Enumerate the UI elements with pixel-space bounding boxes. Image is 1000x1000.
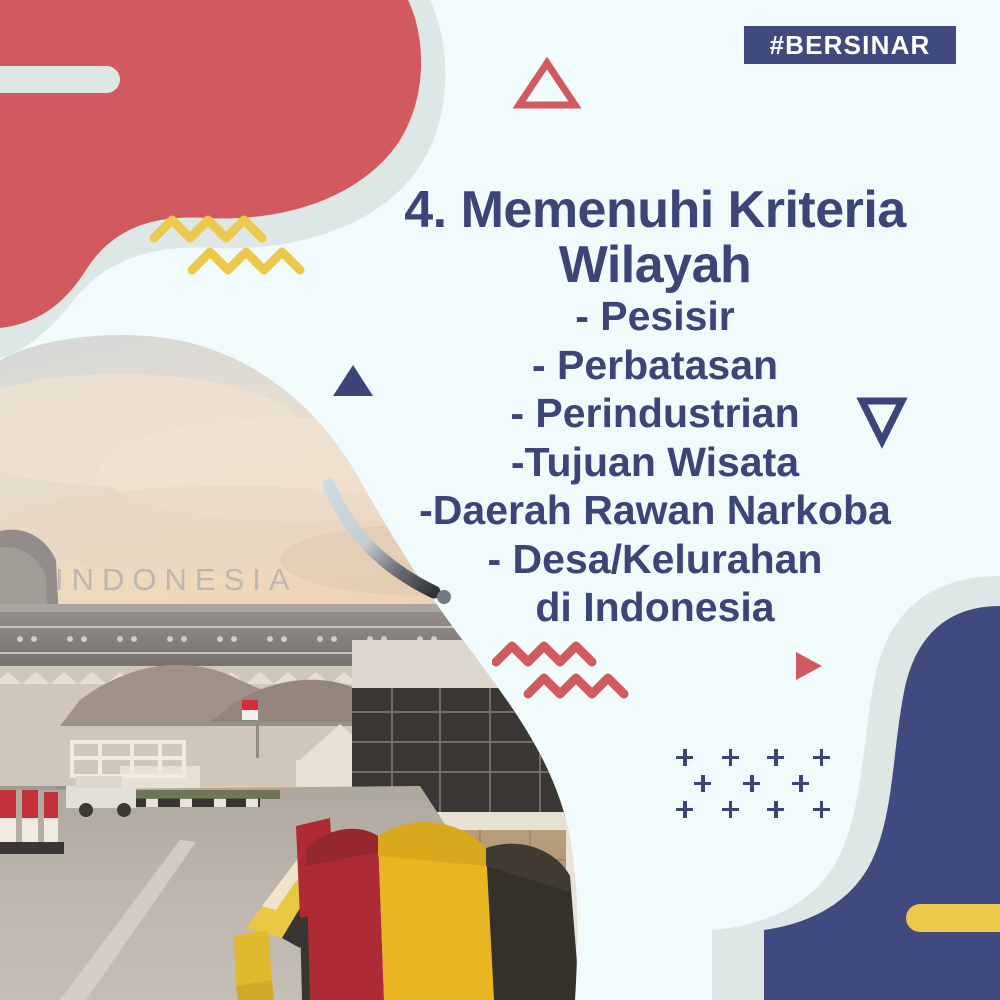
hashtag-badge: #BERSINAR — [744, 26, 956, 64]
yellow-zigzag — [150, 212, 310, 278]
red-zigzag — [492, 640, 642, 702]
criteria-item: - Perbatasan — [330, 341, 980, 390]
plus-icon — [767, 801, 781, 818]
plus-icon — [813, 801, 827, 818]
criteria-item: - Desa/Kelurahan — [330, 535, 980, 584]
plus-icon — [722, 801, 736, 818]
criteria-item: -Tujuan Wisata — [330, 438, 980, 487]
yellow-bar-bottom-right — [906, 904, 1000, 932]
mist-bar-top-left — [0, 66, 120, 93]
navy-plus-grid — [676, 744, 826, 824]
criteria-list: - Pesisir - Perbatasan - Perindustrian -… — [330, 292, 980, 632]
criteria-item: -Daerah Rawan Narkoba — [330, 486, 980, 535]
plus-row — [694, 770, 826, 796]
plus-icon — [676, 749, 690, 766]
plus-icon — [722, 749, 736, 766]
plus-icon — [676, 801, 690, 818]
page-title: 4. Memenuhi Kriteria Wilayah — [330, 183, 980, 294]
plus-icon — [743, 775, 760, 792]
poster-canvas: INDONESIA — [0, 0, 1000, 1000]
criteria-item: - Pesisir — [330, 292, 980, 341]
criteria-item: di Indonesia — [330, 583, 980, 632]
plus-icon — [813, 749, 827, 766]
plus-icon — [767, 749, 781, 766]
plus-icon — [694, 775, 711, 792]
plus-icon — [792, 775, 809, 792]
plus-row — [676, 796, 826, 822]
criteria-item: - Perindustrian — [330, 389, 980, 438]
hashtag-badge-label: #BERSINAR — [769, 32, 930, 58]
plus-row — [676, 744, 826, 770]
